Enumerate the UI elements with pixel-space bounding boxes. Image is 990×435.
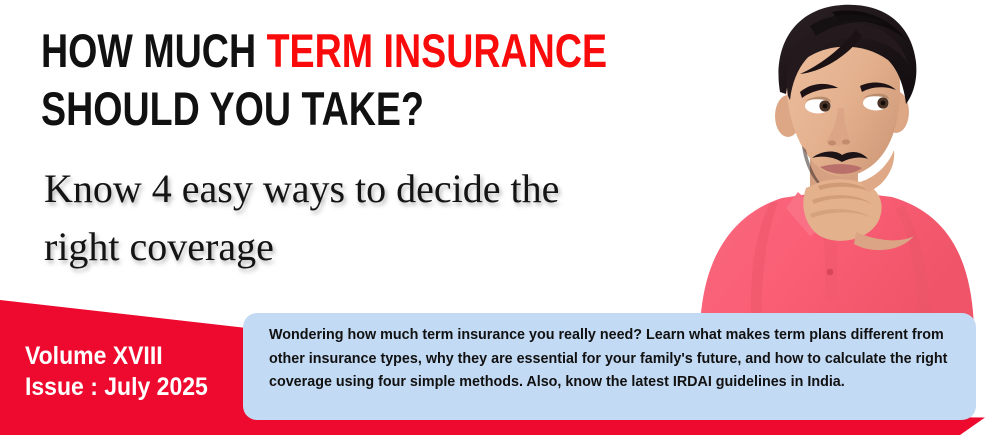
summary-box: Wondering how much term insurance you re… [243, 313, 976, 420]
headline-line-2: SHOULD YOU TAKE? [41, 80, 569, 138]
volume-banner-text: Volume XVIII Issue : July 2025 [25, 341, 208, 403]
page-title: HOW MUCH TERM INSURANCE SHOULD YOU TAKE? [41, 22, 569, 138]
headline-accent: TERM INSURANCE [267, 24, 608, 77]
subtitle-line-2: right coverage [44, 218, 724, 276]
volume-label: Volume XVIII [25, 341, 208, 372]
headline-line-1: HOW MUCH TERM INSURANCE [41, 22, 569, 80]
thinking-man-photo [660, 0, 990, 330]
summary-text: Wondering how much term insurance you re… [269, 323, 962, 394]
issue-label: Issue : July 2025 [25, 372, 208, 403]
headline-prefix: HOW MUCH [41, 24, 267, 77]
newsletter-banner: HOW MUCH TERM INSURANCE SHOULD YOU TAKE?… [0, 0, 990, 435]
portrait-illustration [660, 0, 990, 330]
subtitle-line-1: Know 4 easy ways to decide the [44, 160, 724, 218]
page-subtitle: Know 4 easy ways to decide the right cov… [44, 160, 724, 276]
